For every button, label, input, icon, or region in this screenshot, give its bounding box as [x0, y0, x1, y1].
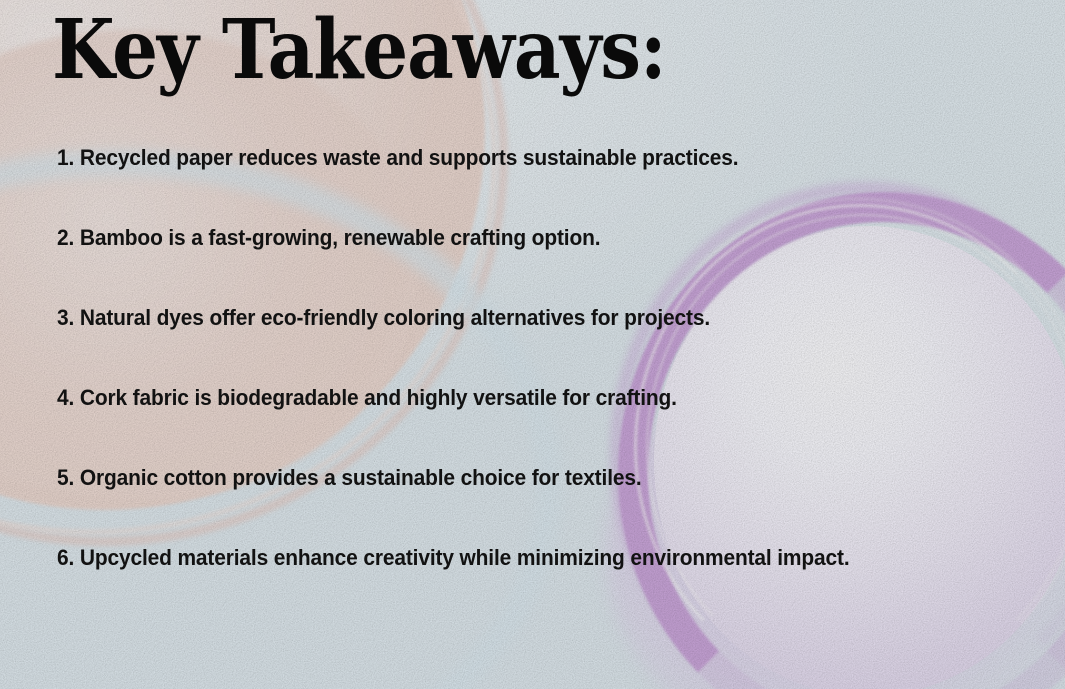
list-item: 5. Organic cotton provides a sustainable…	[57, 464, 957, 544]
list-item: 2. Bamboo is a fast-growing, renewable c…	[57, 224, 957, 304]
takeaways-list: 1. Recycled paper reduces waste and supp…	[57, 144, 1025, 624]
poster-canvas: Key Takeaways: 1. Recycled paper reduces…	[0, 0, 1065, 689]
list-item: 6. Upcycled materials enhance creativity…	[57, 544, 957, 624]
page-title: Key Takeaways:	[52, 9, 666, 91]
list-item: 3. Natural dyes offer eco-friendly color…	[57, 304, 957, 384]
list-item: 4. Cork fabric is biodegradable and high…	[57, 384, 957, 464]
poster-content: Key Takeaways: 1. Recycled paper reduces…	[0, 0, 1065, 689]
list-item: 1. Recycled paper reduces waste and supp…	[57, 144, 957, 224]
